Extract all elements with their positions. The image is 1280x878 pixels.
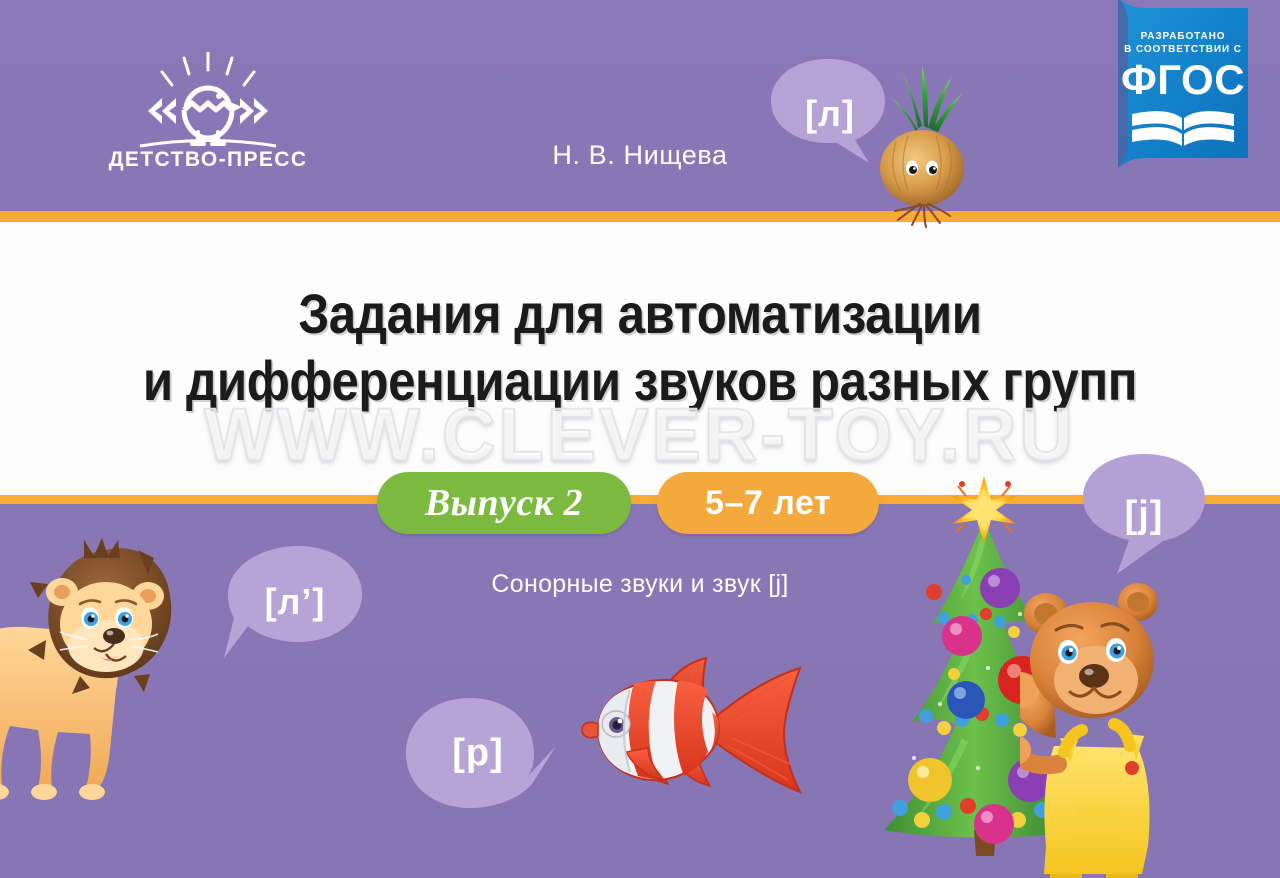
chick-in-egg-icon — [88, 52, 328, 152]
fgos-badge: РАЗРАБОТАНО В СООТВЕТСТВИИ С ФГОС — [1100, 0, 1266, 172]
publisher-name: ДЕТСТВО-ПРЕСС — [88, 148, 328, 172]
fgos-line-2: В СООТВЕТСТВИИ С — [1124, 44, 1242, 55]
subtitle: Сонорные звуки и звук [j] — [0, 570, 1280, 599]
age-badge-label: 5–7 лет — [705, 484, 831, 523]
book-cover: ДЕТСТВО-ПРЕСС Н. В. Нищева РАЗРАБОТАНО В… — [0, 0, 1280, 878]
fgos-subtitle: РАЗРАБОТАНО В СООТВЕТСТВИИ С — [1100, 30, 1266, 56]
speech-bubble-l-label: [л] — [765, 55, 895, 193]
speech-bubble-l: [л] — [765, 55, 895, 173]
issue-badge: Выпуск 2 — [377, 472, 631, 534]
top-orange-stripe — [0, 211, 1280, 222]
speech-bubble-r-label: [р] — [398, 692, 580, 814]
fgos-line-1: РАЗРАБОТАНО — [1141, 31, 1226, 42]
fish-illustration — [560, 650, 820, 810]
bear-illustration — [1020, 578, 1220, 878]
speech-bubble-l-soft: [л’] — [222, 542, 368, 662]
lion-illustration — [0, 520, 203, 820]
publisher-logo: ДЕТСТВО-ПРЕСС — [88, 52, 328, 180]
issue-badge-label: Выпуск 2 — [425, 481, 583, 525]
open-book-icon — [1130, 108, 1236, 152]
fgos-acronym: ФГОС — [1100, 58, 1266, 102]
speech-bubble-r: [р] — [398, 692, 558, 814]
title-line-2: и дифференциации звуков разных групп — [77, 348, 1203, 413]
title-line-1: Задания для автоматизации — [77, 281, 1203, 346]
age-badge: 5–7 лет — [657, 472, 879, 534]
speech-bubble-l-soft-label: [л’] — [222, 542, 372, 670]
